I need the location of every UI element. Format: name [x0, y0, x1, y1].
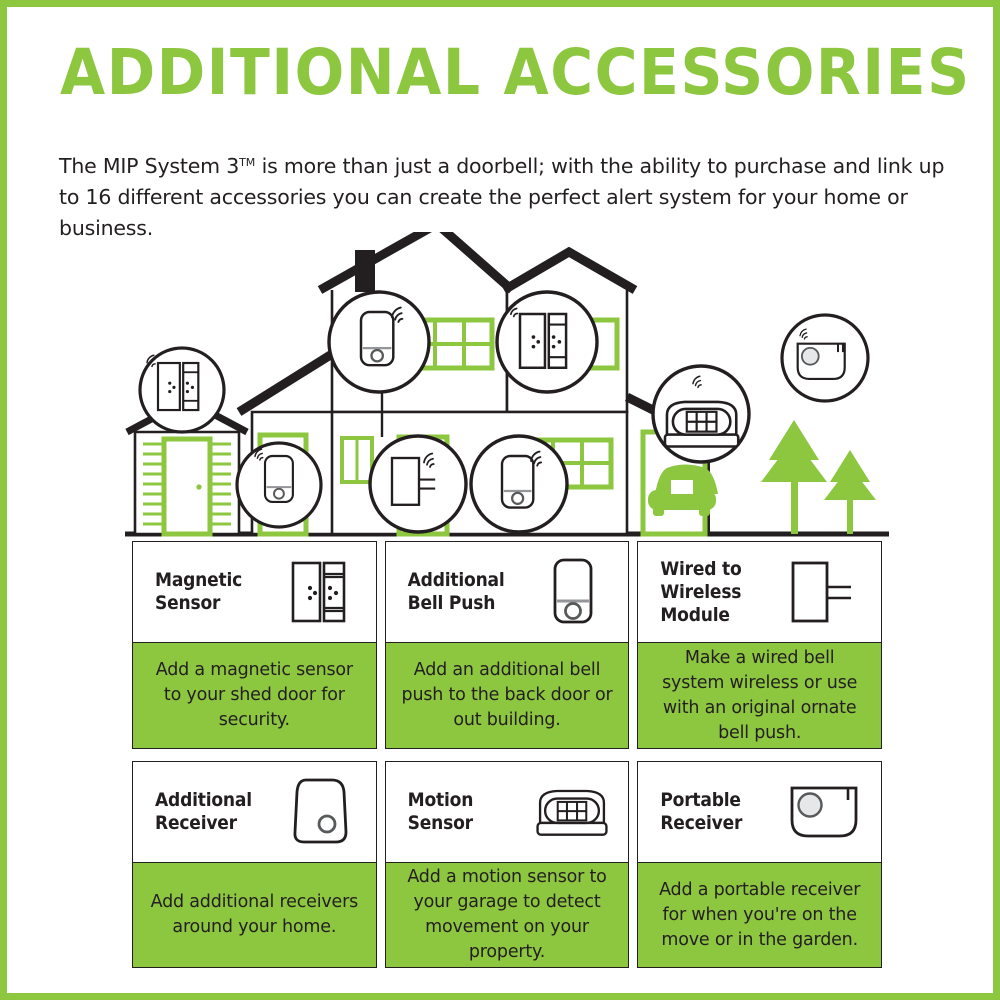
- badge-magnetic-sensor-window: [497, 292, 597, 392]
- card-description: Add a portable receiver for when you're …: [638, 862, 881, 967]
- card-title: Portable Receiver: [660, 789, 742, 835]
- intro-paragraph: The MIP System 3TM is more than just a d…: [59, 147, 964, 244]
- badge-motion-sensor-garage: [653, 366, 749, 462]
- card-additional-receiver[interactable]: Additional Receiver Add additional recei…: [132, 761, 377, 968]
- badge-magnetic-sensor-shed: [140, 348, 224, 432]
- card-header: Motion Sensor: [386, 762, 629, 862]
- receiver-icon: [278, 768, 362, 856]
- intro-text-before: The MIP System 3: [59, 154, 239, 178]
- card-title: Additional Bell Push: [408, 569, 505, 615]
- chimney: [355, 250, 375, 292]
- accessories-grid: Magnetic Sensor Add a magnetic sensor to…: [132, 541, 882, 968]
- motion-sensor-icon: [530, 768, 614, 856]
- card-title: Additional Receiver: [155, 789, 252, 835]
- badge-wired-to-wireless: [370, 436, 466, 532]
- header: ADDITIONAL ACCESSORIES: [60, 40, 953, 106]
- poster-page: ADDITIONAL ACCESSORIES The MIP System 3T…: [0, 0, 1000, 1000]
- card-header: Wired to Wireless Module: [638, 542, 881, 642]
- wired-to-wireless-icon: [783, 548, 867, 636]
- card-description: Add a magnetic sensor to your shed door …: [133, 642, 376, 748]
- card-description: Add additional receivers around your hom…: [133, 862, 376, 967]
- card-title: Wired to Wireless Module: [660, 558, 741, 627]
- badge-bell-push-upper: [329, 292, 429, 392]
- card-title: Magnetic Sensor: [155, 569, 242, 615]
- magnetic-sensor-icon: [278, 548, 362, 636]
- trademark-mark: TM: [239, 156, 255, 169]
- badge-bell-push-side-door: [237, 443, 321, 527]
- card-magnetic-sensor[interactable]: Magnetic Sensor Add a magnetic sensor to…: [132, 541, 377, 749]
- card-header: Additional Bell Push: [386, 542, 629, 642]
- badge-additional-receiver: [471, 436, 567, 532]
- card-motion-sensor[interactable]: Motion Sensor Add a motion sensor to you…: [385, 761, 630, 968]
- house-illustration: [7, 232, 1000, 542]
- card-description: Make a wired bell system wireless or use…: [638, 642, 881, 748]
- portable-receiver-icon: [783, 768, 867, 856]
- car-icon: [648, 465, 718, 517]
- card-header: Additional Receiver: [133, 762, 376, 862]
- pine-tree-large: [761, 420, 827, 534]
- card-header: Magnetic Sensor: [133, 542, 376, 642]
- card-description: Add a motion sensor to your garage to de…: [386, 862, 629, 967]
- pine-tree-small: [824, 450, 876, 534]
- card-header: Portable Receiver: [638, 762, 881, 862]
- card-additional-bell-push[interactable]: Additional Bell Push Add an additional b…: [385, 541, 630, 749]
- card-description: Add an additional bell push to the back …: [386, 642, 629, 748]
- bell-push-icon: [530, 548, 614, 636]
- card-portable-receiver[interactable]: Portable Receiver Add a portable receive…: [637, 761, 882, 968]
- badge-portable-receiver: [782, 315, 868, 401]
- card-wired-to-wireless-module[interactable]: Wired to Wireless Module Make a wired be…: [637, 541, 882, 749]
- card-title: Motion Sensor: [408, 789, 474, 835]
- page-title: ADDITIONAL ACCESSORIES: [60, 40, 980, 106]
